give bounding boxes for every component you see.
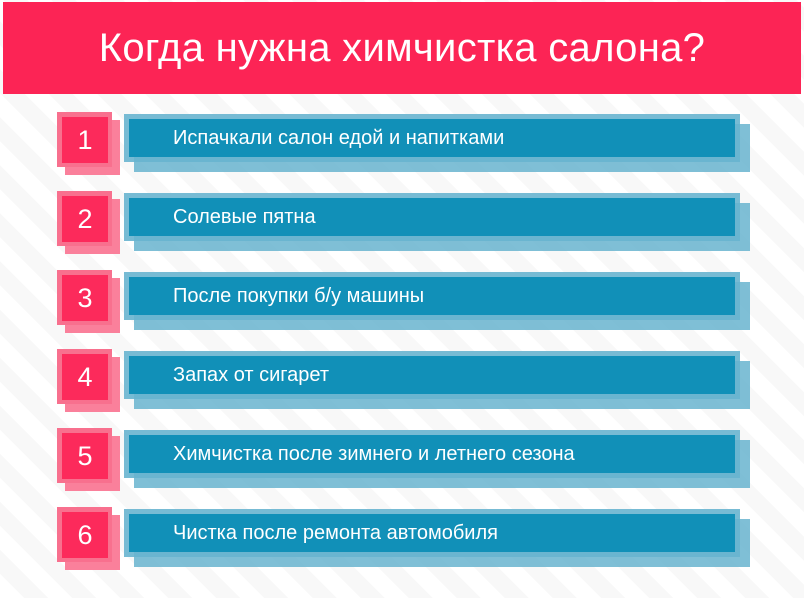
list-item[interactable]: 2 Солевые пятна	[0, 191, 804, 255]
item-bar[interactable]: Запах от сигарет	[124, 351, 750, 409]
badge-face: 1	[62, 117, 108, 163]
title-banner: Когда нужна химчистка салона?	[3, 2, 801, 94]
bar-face: Запах от сигарет	[129, 356, 735, 394]
badge-face: 5	[62, 433, 108, 479]
slide-canvas: Когда нужна химчистка салона? 1 Испачкал…	[0, 0, 804, 598]
bar-face: Химчистка после зимнего и летнего сезона	[129, 435, 735, 473]
bar-face: Испачкали салон едой и напитками	[129, 119, 735, 157]
checklist: 1 Испачкали салон едой и напитками 2	[0, 112, 804, 586]
badge-number: 5	[77, 443, 92, 470]
item-label: После покупки б/у машины	[129, 286, 424, 306]
badge-face: 4	[62, 354, 108, 400]
list-item[interactable]: 3 После покупки б/у машины	[0, 270, 804, 334]
number-badge: 1	[57, 112, 112, 167]
item-label: Солевые пятна	[129, 207, 316, 227]
number-badge: 6	[57, 507, 112, 562]
badge-face: 3	[62, 275, 108, 321]
number-badge: 5	[57, 428, 112, 483]
list-item[interactable]: 4 Запах от сигарет	[0, 349, 804, 413]
number-badge: 4	[57, 349, 112, 404]
badge-face: 2	[62, 196, 108, 242]
badge-face: 6	[62, 512, 108, 558]
item-bar[interactable]: После покупки б/у машины	[124, 272, 750, 330]
badge-number: 2	[77, 206, 92, 233]
item-bar[interactable]: Испачкали салон едой и напитками	[124, 114, 750, 172]
list-item[interactable]: 5 Химчистка после зимнего и летнего сезо…	[0, 428, 804, 492]
badge-number: 1	[77, 127, 92, 154]
badge-number: 3	[77, 285, 92, 312]
bar-face: Чистка после ремонта автомобиля	[129, 514, 735, 552]
item-label: Испачкали салон едой и напитками	[129, 128, 504, 148]
item-label: Запах от сигарет	[129, 365, 329, 385]
item-bar[interactable]: Химчистка после зимнего и летнего сезона	[124, 430, 750, 488]
item-label: Химчистка после зимнего и летнего сезона	[129, 444, 575, 464]
item-bar[interactable]: Солевые пятна	[124, 193, 750, 251]
number-badge: 2	[57, 191, 112, 246]
page-title: Когда нужна химчистка салона?	[99, 28, 705, 68]
badge-number: 6	[77, 522, 92, 549]
bar-face: После покупки б/у машины	[129, 277, 735, 315]
list-item[interactable]: 6 Чистка после ремонта автомобиля	[0, 507, 804, 571]
item-bar[interactable]: Чистка после ремонта автомобиля	[124, 509, 750, 567]
bar-face: Солевые пятна	[129, 198, 735, 236]
badge-number: 4	[77, 364, 92, 391]
item-label: Чистка после ремонта автомобиля	[129, 523, 498, 543]
number-badge: 3	[57, 270, 112, 325]
list-item[interactable]: 1 Испачкали салон едой и напитками	[0, 112, 804, 176]
